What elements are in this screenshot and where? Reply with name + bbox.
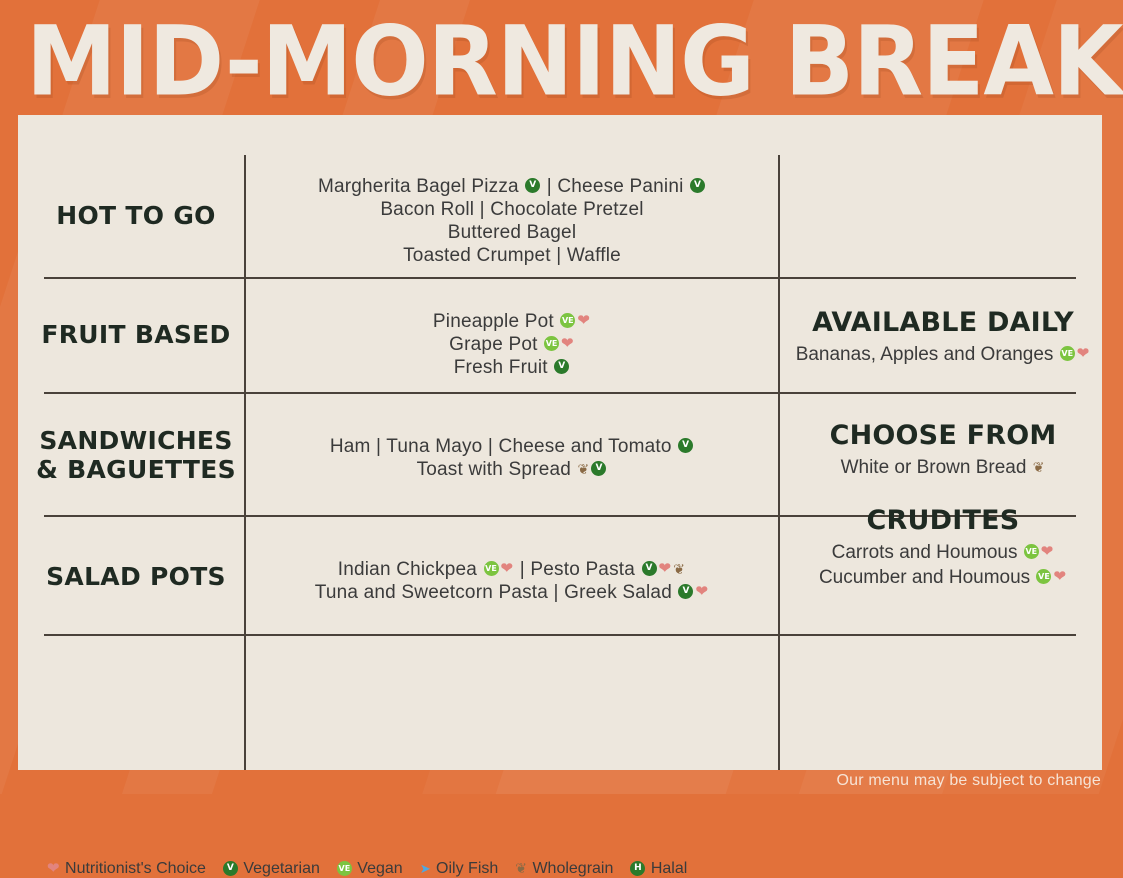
legend-item: V Vegetarian [222,860,320,878]
menu-item-line: Buttered Bagel [250,221,774,244]
menu-item-line: Toasted Crumpet | Waffle [250,244,774,267]
legend-item-label: Wholegrain [528,860,613,877]
category-label-hot-to-go: HOT TO GO [28,201,244,230]
vegan-icon: VE [484,561,499,576]
menu-item-line: Carrots and Houmous VE❤ [784,540,1102,565]
wholegrain-icon: ❦ [515,861,527,875]
vegan-icon: VE [337,861,352,876]
nutritionists-choice-icon: ❤ [1053,569,1066,584]
legend-item-label: Vegan [353,860,403,877]
menu-item-text: Toasted Crumpet | Waffle [403,245,621,266]
menu-items-fruit-based: Pineapple Pot VE❤Grape Pot VE❤Fresh Frui… [250,310,774,379]
vegetarian-icon: V [223,861,238,876]
vegetarian-icon: V [642,561,657,576]
menu-item-text: White or Brown Bread [841,457,1032,478]
menu-item-line: Tuna and Sweetcorn Pasta | Greek Salad V… [250,581,774,604]
side-block-available-daily: AVAILABLE DAILYBananas, Apples and Orang… [784,307,1102,367]
nutritionists-choice-icon: ❤ [561,336,574,351]
menu-items-hot-to-go: Margherita Bagel Pizza V | Cheese Panini… [250,175,774,267]
menu-item-line: Bananas, Apples and Oranges VE❤ [784,342,1102,367]
page-title: MID-MORNING BREAK [26,14,1123,110]
vegan-icon: VE [1024,544,1039,559]
nutritionists-choice-icon: ❤ [47,861,60,876]
menu-item-line: Pineapple Pot VE❤ [250,310,774,333]
menu-item-line: Indian Chickpea VE❤ | Pesto Pasta V❤❦ [250,558,774,581]
vegetarian-icon: V [591,461,606,476]
nutritionists-choice-icon: ❤ [1077,346,1090,361]
row-divider-1 [44,277,1076,279]
column-divider-left [244,155,246,770]
nutritionists-choice-icon: ❤ [1041,544,1054,559]
side-block-choose-from: CHOOSE FROMWhite or Brown Bread ❦ [784,420,1102,480]
vegan-icon: VE [1036,569,1051,584]
menu-item-line: Grape Pot VE❤ [250,333,774,356]
menu-item-line: Margherita Bagel Pizza V | Cheese Panini… [250,175,774,198]
menu-item-line: Cucumber and Houmous VE❤ [784,565,1102,590]
menu-item-text: Pineapple Pot [433,311,559,332]
menu-item-text: Toast with Spread [417,459,577,480]
column-divider-right [778,155,780,770]
wholegrain-icon: ❦ [673,562,685,576]
menu-item-text: | Cheese Panini [541,176,689,197]
menu-item-text: Buttered Bagel [448,222,577,243]
menu-item-line: Ham | Tuna Mayo | Cheese and Tomato V [250,435,774,458]
menu-item-text: Indian Chickpea [338,559,483,580]
vegan-icon: VE [544,336,559,351]
legend-item-label: Vegetarian [239,860,320,877]
menu-item-line: Fresh Fruit V [250,356,774,379]
row-divider-2 [44,392,1076,394]
side-block-heading: CHOOSE FROM [784,420,1102,451]
vegan-icon: VE [560,313,575,328]
nutritionists-choice-icon: ❤ [501,561,514,576]
vegetarian-icon: V [525,178,540,193]
category-label-fruit-based: FRUIT BASED [28,320,244,349]
legend-item-label: Nutritionist's Choice [61,860,206,877]
nutritionists-choice-icon: ❤ [577,313,590,328]
menu-item-text: Margherita Bagel Pizza [318,176,524,197]
footer-disclaimer: Our menu may be subject to change [836,772,1101,790]
legend-item: H Halal [629,860,687,878]
menu-item-text: Bananas, Apples and Oranges [796,344,1059,365]
menu-panel: HOT TO GO FRUIT BASED SANDWICHES& BAGUET… [18,115,1102,770]
category-label-sandwiches-baguettes: SANDWICHES& BAGUETTES [28,426,244,484]
vegetarian-icon: V [690,178,705,193]
menu-item-text: Grape Pot [449,334,543,355]
category-label-salad-pots: SALAD POTS [28,562,244,591]
menu-item-text: Carrots and Houmous [832,542,1023,563]
menu-item-line: Toast with Spread ❦V [250,458,774,481]
menu-item-text: Tuna and Sweetcorn Pasta | Greek Salad [315,582,678,603]
menu-item-text: | Pesto Pasta [514,559,640,580]
side-block-heading: AVAILABLE DAILY [784,307,1102,338]
wholegrain-icon: ❦ [1033,460,1045,474]
vegetarian-icon: V [554,359,569,374]
menu-item-text: Bacon Roll | Chocolate Pretzel [380,199,643,220]
menu-item-line: Bacon Roll | Chocolate Pretzel [250,198,774,221]
nutritionists-choice-icon: ❤ [659,561,672,576]
nutritionists-choice-icon: ❤ [695,584,708,599]
legend-item: VE Vegan [336,860,403,878]
legend-item: ➤ Oily Fish [419,860,499,878]
side-block-crudites: CRUDITESCarrots and Houmous VE❤Cucumber … [784,505,1102,590]
side-block-heading: CRUDITES [784,505,1102,536]
vegan-icon: VE [1060,346,1075,361]
row-divider-4 [44,634,1076,636]
dietary-legend: ❤ Nutritionist's ChoiceV VegetarianVE Ve… [46,860,703,878]
legend-item: ❤ Nutritionist's Choice [46,860,206,878]
vegetarian-icon: V [678,438,693,453]
oily-fish-icon: ➤ [420,862,431,875]
menu-item-text: Cucumber and Houmous [819,567,1036,588]
legend-item: ❦ Wholegrain [514,860,613,878]
halal-icon: H [630,861,645,876]
menu-item-text: Ham | Tuna Mayo | Cheese and Tomato [330,436,677,457]
menu-item-line: White or Brown Bread ❦ [784,455,1102,480]
menu-item-text: Fresh Fruit [454,357,554,378]
legend-item-label: Halal [646,860,687,877]
vegetarian-icon: V [678,584,693,599]
menu-items-sandwiches-baguettes: Ham | Tuna Mayo | Cheese and Tomato VToa… [250,435,774,481]
menu-items-salad-pots: Indian Chickpea VE❤ | Pesto Pasta V❤❦Tun… [250,558,774,604]
legend-item-label: Oily Fish [432,860,499,877]
wholegrain-icon: ❦ [577,462,589,476]
